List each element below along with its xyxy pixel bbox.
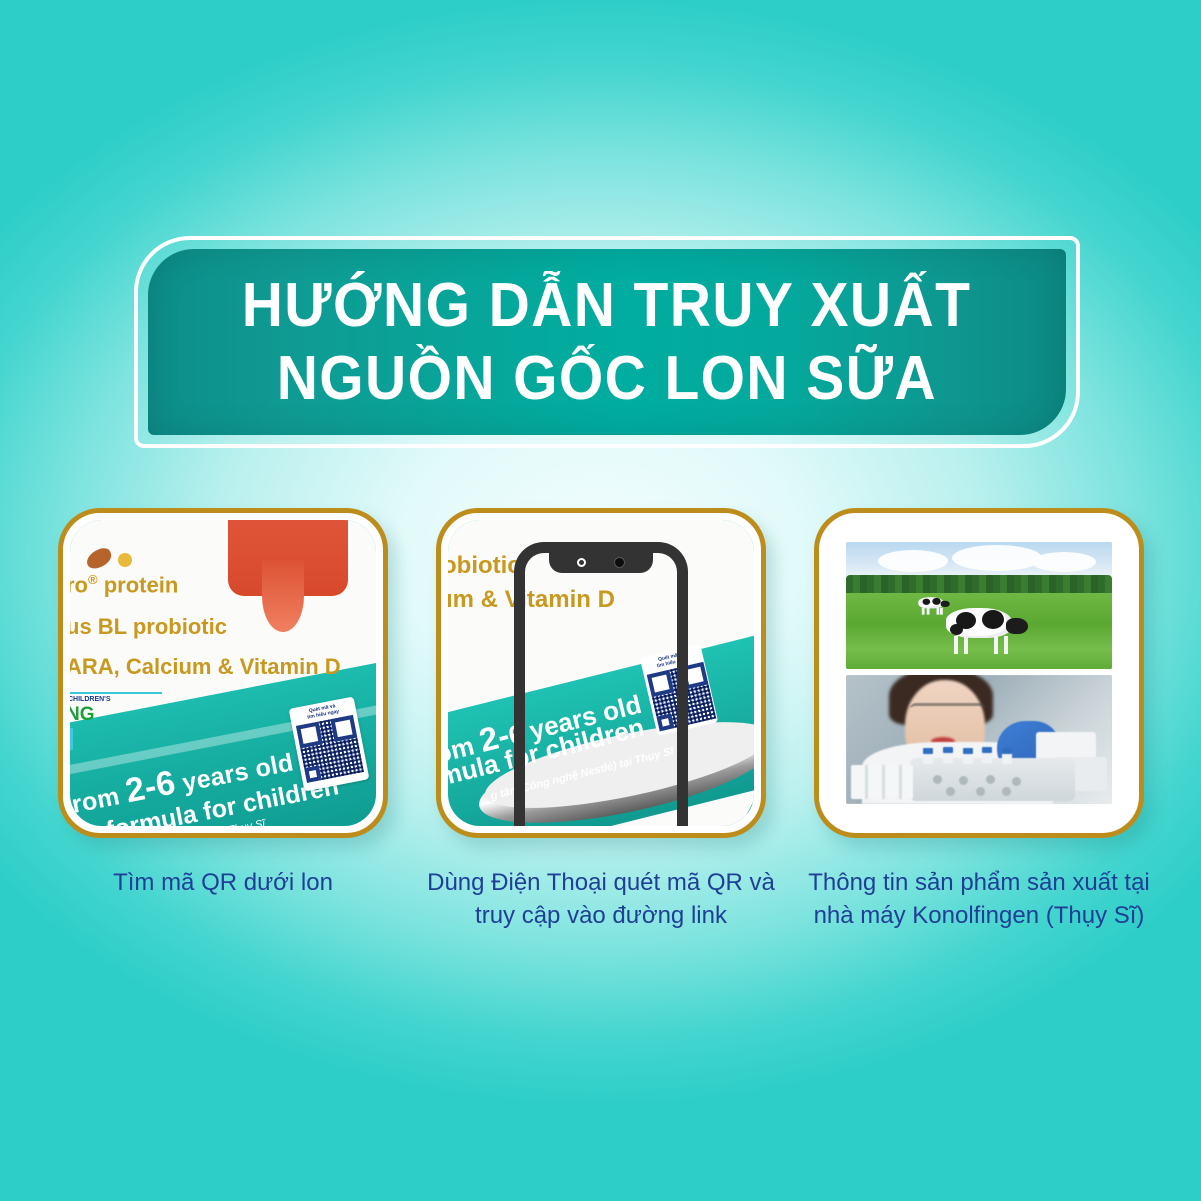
- cow-leg: [964, 636, 968, 654]
- rack-hole: [976, 787, 985, 796]
- phone-scanning-qr-on-can: obiotic um & Vitamin D om 2-6 years old …: [448, 520, 754, 826]
- step-card-1[interactable]: ro® protein us BL probiotic ARA, Calcium…: [58, 508, 388, 838]
- cow-leg: [994, 636, 998, 654]
- cow-icon: [942, 608, 1028, 658]
- cloud-icon: [878, 550, 948, 572]
- rack-hole: [1002, 787, 1011, 796]
- step-3-image: [826, 520, 1132, 826]
- test-tube-row: [851, 765, 913, 799]
- can-label-line-1: obiotic: [448, 552, 521, 580]
- step-3-caption-line-2: nhà máy Konolfingen (Thụy Sĩ): [799, 899, 1159, 932]
- cow-leg: [936, 607, 939, 614]
- step-captions: Tìm mã QR dưới lon Dùng Điện Thoại quét …: [0, 866, 1201, 946]
- step-1-image: ro® protein us BL probiotic ARA, Calcium…: [70, 520, 376, 826]
- rack-hole: [1012, 777, 1021, 786]
- can-label-line-2: us BL probiotic: [70, 614, 227, 640]
- title-banner: HƯỚNG DẪN TRUY XUẤT NGUỒN GỐC LON SỮA: [134, 236, 1080, 448]
- rack-hole: [986, 775, 995, 784]
- cow-spot: [922, 598, 930, 604]
- step-2-image: obiotic um & Vitamin D om 2-6 years old …: [448, 520, 754, 826]
- sample-vial: [1002, 748, 1012, 764]
- step-card-2[interactable]: obiotic um & Vitamin D om 2-6 years old …: [436, 508, 766, 838]
- can-badge-small: CHILDREN'S: [70, 696, 111, 703]
- steps-card-row: ro® protein us BL probiotic ARA, Calcium…: [0, 508, 1201, 848]
- rack-hole: [959, 776, 968, 785]
- cow-leg: [1004, 636, 1008, 654]
- speaker-dot-icon: [614, 557, 625, 568]
- qr-matrix: [296, 714, 364, 782]
- can-badge-big: NG: [70, 704, 95, 726]
- can-accent-bar: [70, 728, 73, 750]
- cow-leg: [922, 607, 925, 614]
- banner-fill: HƯỚNG DẪN TRUY XUẤT NGUỒN GỐC LON SỮA: [148, 249, 1066, 435]
- step-2-caption-line-1: Dùng Điện Thoại quét mã QR và: [421, 866, 781, 899]
- safety-glasses-icon: [910, 703, 986, 717]
- cow-spot: [950, 624, 963, 635]
- can-label-divider: [70, 692, 162, 694]
- sample-vial: [943, 747, 953, 763]
- sample-vial: [963, 748, 973, 764]
- cow-leg: [954, 636, 958, 654]
- camera-icon: [577, 558, 586, 567]
- cloud-icon: [952, 545, 1042, 571]
- milk-can-label-closeup: ro® protein us BL probiotic ARA, Calcium…: [70, 520, 376, 826]
- sample-vial: [923, 748, 933, 764]
- can-label-line-1: ro® protein: [70, 572, 178, 598]
- lab-technician-with-sample-vials: [846, 675, 1112, 804]
- step-3-caption-line-1: Thông tin sản phẩm sản xuất tại: [799, 866, 1159, 899]
- dairy-cows-in-green-pasture: [846, 542, 1112, 669]
- grain-icon: [118, 553, 132, 567]
- step-1-caption: Tìm mã QR dưới lon: [43, 866, 403, 899]
- banner-title-line-2: NGUỒN GỐC LON SỮA: [277, 347, 937, 410]
- rack-hole: [946, 787, 955, 796]
- cow-head: [1006, 618, 1028, 634]
- cow-spot: [982, 610, 1004, 629]
- qr-finder-bottom-left: [304, 765, 322, 783]
- sample-vial: [982, 747, 992, 763]
- farm-and-lab-photos: [826, 520, 1132, 826]
- can-label-line-3: ARA, Calcium & Vitamin D: [70, 654, 341, 680]
- rack-hole: [933, 775, 942, 784]
- cow-spot: [932, 598, 940, 605]
- step-card-3[interactable]: [814, 508, 1144, 838]
- step-2-caption: Dùng Điện Thoại quét mã QR và truy cập v…: [421, 866, 781, 932]
- cow-leg: [927, 607, 930, 614]
- phone-notch: [549, 552, 653, 573]
- red-graphic-tail: [262, 560, 304, 632]
- step-2-caption-line-2: truy cập vào đường link: [421, 899, 781, 932]
- sample-rack: [910, 758, 1075, 802]
- step-3-caption: Thông tin sản phẩm sản xuất tại nhà máy …: [799, 866, 1159, 932]
- cow-head: [941, 600, 950, 606]
- smartphone-frame: [514, 542, 688, 826]
- banner-title-line-1: HƯỚNG DẪN TRUY XUẤT: [242, 274, 972, 337]
